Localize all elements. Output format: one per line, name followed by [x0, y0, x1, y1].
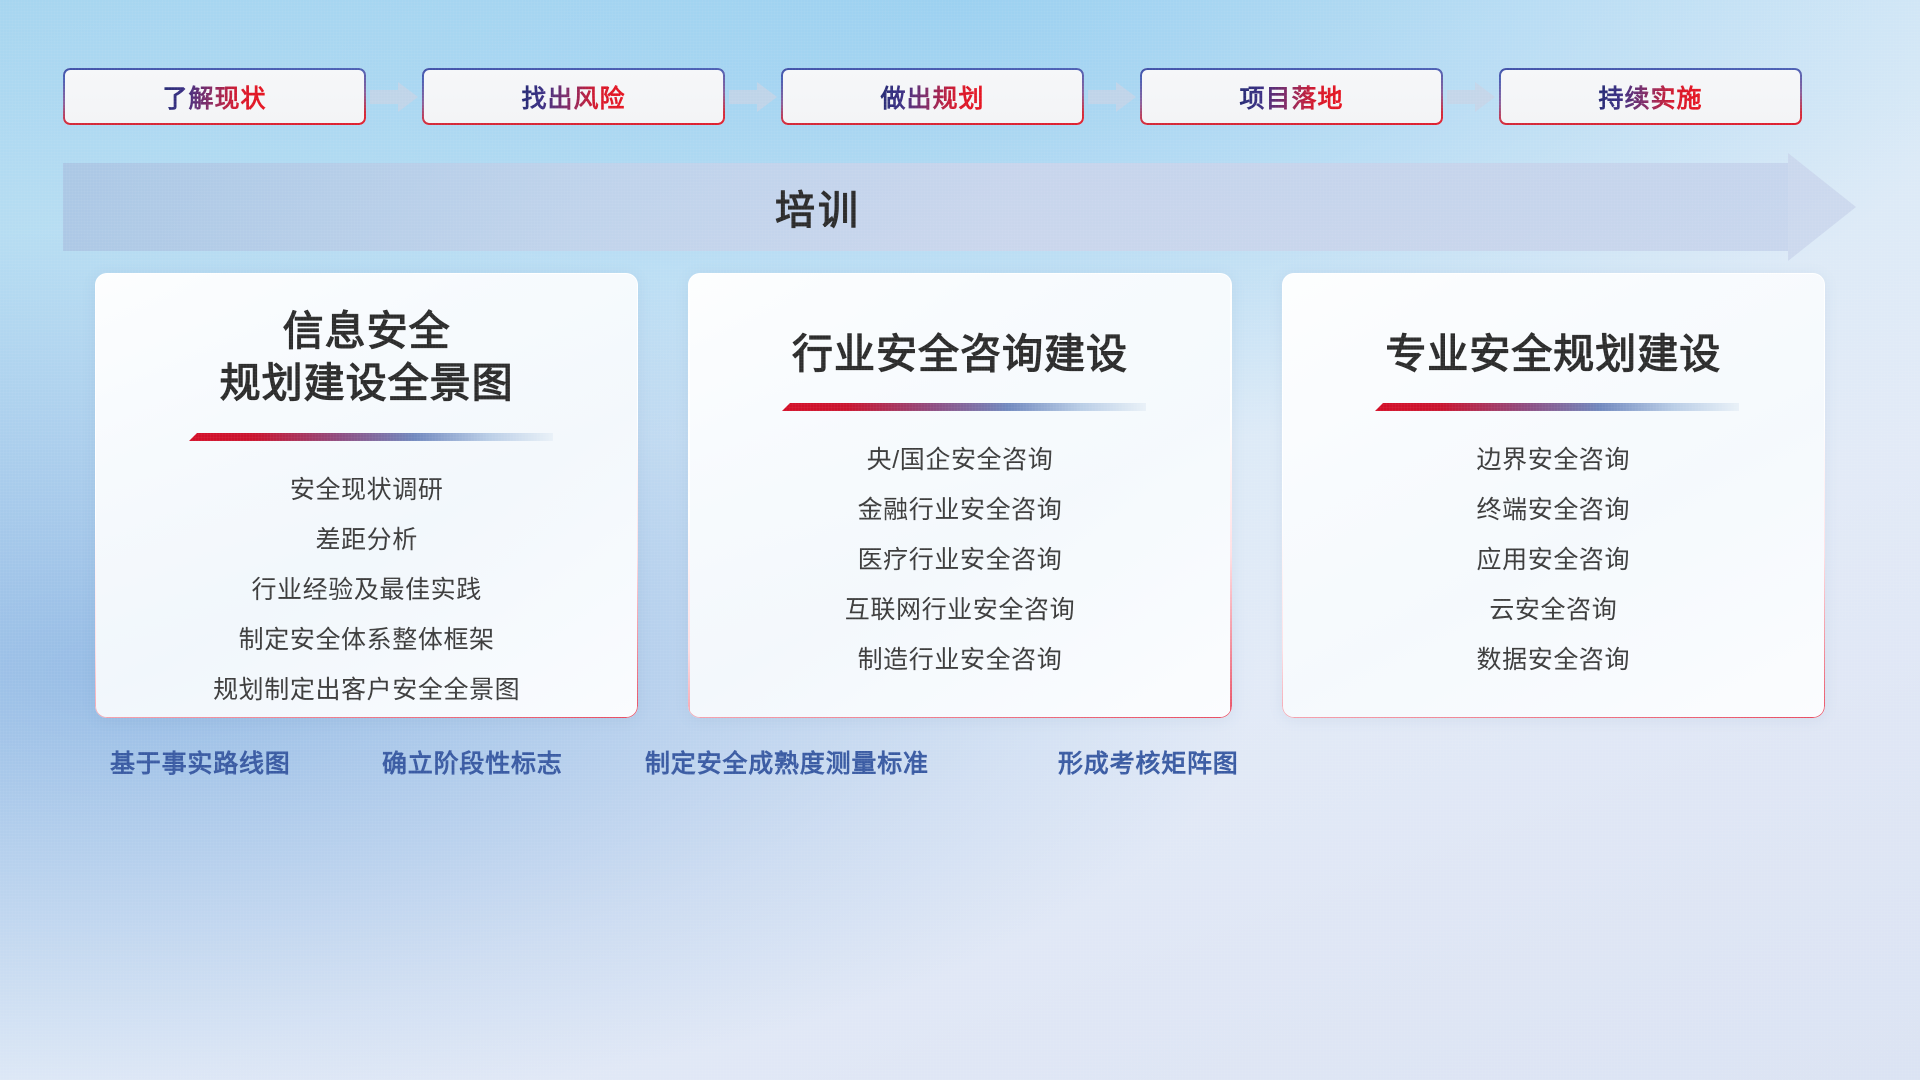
card-group: 信息安全 规划建设全景图 — [95, 273, 1825, 718]
step-label-1: 了解现状 — [162, 79, 266, 115]
outcome-label-1: 基于事实路线图 — [110, 744, 291, 780]
card-1-divider-wrap — [95, 432, 638, 443]
step-box-4[interactable]: 项目落地 — [1140, 68, 1443, 125]
card-3[interactable]: 专业安全规划建设 — [1282, 273, 1825, 718]
card-2-list: 央/国企安全咨询 金融行业安全咨询 医疗行业安全咨询 互联网行业安全咨询 制造行… — [688, 439, 1231, 681]
outcome-label-3: 制定安全成熟度测量标准 — [645, 744, 929, 780]
arrow-right-icon-2 — [727, 80, 779, 114]
slide-canvas: 了解现状 找出风险 做出规划 项目落地 — [0, 0, 1920, 1080]
step-label-4: 项目落地 — [1239, 79, 1343, 115]
outcome-label-4: 形成考核矩阵图 — [1058, 744, 1239, 780]
outcome-label-row: 基于事实路线图 确立阶段性标志 制定安全成熟度测量标准 形成考核矩阵图 — [0, 744, 1920, 788]
process-step-row: 了解现状 找出风险 做出规划 项目落地 — [63, 68, 1857, 125]
step-label-3: 做出规划 — [880, 79, 984, 115]
arrow-right-icon-4 — [1445, 80, 1497, 114]
list-item: 医疗行业安全咨询 — [858, 539, 1063, 581]
list-item: 金融行业安全咨询 — [858, 489, 1063, 531]
outcome-label-2: 确立阶段性标志 — [382, 744, 563, 780]
card-2[interactable]: 行业安全咨询建设 — [688, 273, 1231, 718]
arrow-right-icon-3 — [1086, 80, 1138, 114]
card-3-divider-wrap — [1282, 402, 1825, 413]
training-banner: 培训 — [63, 163, 1857, 251]
card-2-divider — [774, 402, 1146, 413]
list-item: 安全现状调研 — [290, 469, 444, 511]
card-3-list: 边界安全咨询 终端安全咨询 应用安全咨询 云安全咨询 数据安全咨询 — [1282, 439, 1825, 681]
list-item: 互联网行业安全咨询 — [845, 589, 1075, 631]
step-box-1[interactable]: 了解现状 — [63, 68, 366, 125]
arrow-right-icon-1 — [368, 80, 420, 114]
card-1[interactable]: 信息安全 规划建设全景图 — [95, 273, 638, 718]
card-2-title: 行业安全咨询建设 — [792, 328, 1128, 380]
card-3-title: 专业安全规划建设 — [1385, 328, 1721, 380]
list-item: 制造行业安全咨询 — [858, 639, 1063, 681]
step-label-2: 找出风险 — [521, 79, 625, 115]
card-2-divider-wrap — [688, 402, 1231, 413]
banner-arrow-tip-icon — [1788, 153, 1856, 261]
list-item: 央/国企安全咨询 — [867, 439, 1054, 481]
step-box-2[interactable]: 找出风险 — [422, 68, 725, 125]
card-1-list: 安全现状调研 差距分析 行业经验及最佳实践 制定安全体系整体框架 规划制定出客户… — [95, 469, 638, 711]
list-item: 边界安全咨询 — [1477, 439, 1631, 481]
list-item: 制定安全体系整体框架 — [239, 619, 495, 661]
list-item: 应用安全咨询 — [1477, 539, 1631, 581]
banner-label: 培训 — [63, 163, 1573, 251]
list-item: 数据安全咨询 — [1477, 639, 1631, 681]
card-1-divider — [181, 432, 553, 443]
list-item: 终端安全咨询 — [1477, 489, 1631, 531]
step-label-5: 持续实施 — [1598, 79, 1702, 115]
card-1-title: 信息安全 规划建设全景图 — [220, 305, 514, 410]
list-item: 行业经验及最佳实践 — [251, 569, 481, 611]
list-item: 规划制定出客户安全全景图 — [213, 669, 520, 711]
list-item: 差距分析 — [315, 519, 417, 561]
step-box-3[interactable]: 做出规划 — [781, 68, 1084, 125]
list-item: 云安全咨询 — [1489, 589, 1617, 631]
step-box-5[interactable]: 持续实施 — [1499, 68, 1802, 125]
card-3-divider — [1367, 402, 1739, 413]
